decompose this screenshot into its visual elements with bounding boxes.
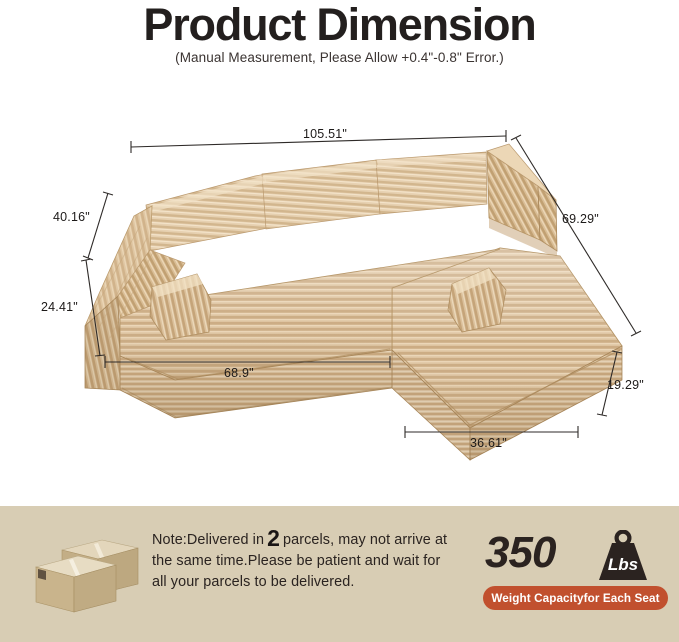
weight-dumbbell-icon: Lbs <box>595 530 651 582</box>
page-subtitle: (Manual Measurement, Please Allow +0.4"-… <box>0 50 679 65</box>
capacity-value-row: 350 Lbs <box>483 528 668 586</box>
dimension-lines <box>0 88 679 506</box>
dimension-label-overall-width: 105.51" <box>303 127 347 141</box>
delivery-banner: Note:Delivered in2parcels, may not arriv… <box>0 506 679 642</box>
cardboard-boxes-icon <box>24 536 144 614</box>
dimension-label-overall-height: 40.16" <box>53 210 90 224</box>
capacity-unit-text: Lbs <box>608 555 638 574</box>
dimension-label-seat-height: 24.41" <box>41 300 78 314</box>
dimension-label-sofa-seat-width: 68.9" <box>224 366 254 380</box>
weight-capacity-block: 350 Lbs Weight Capacityfor Each Seat <box>483 528 668 620</box>
capacity-number: 350 <box>485 528 555 578</box>
product-dimension-infographic: Product Dimension (Manual Measurement, P… <box>0 0 679 642</box>
dimension-label-chaise-height: 19.29" <box>607 378 644 392</box>
capacity-pill-label: Weight Capacityfor Each Seat <box>483 586 668 610</box>
dimension-label-chaise-depth: 36.61" <box>470 436 507 450</box>
page-title: Product Dimension <box>0 0 679 50</box>
dimension-diagram: 105.51" 40.16" 24.41" 69.29" 19.29" 68.9… <box>0 88 679 506</box>
header: Product Dimension (Manual Measurement, P… <box>0 0 679 80</box>
note-prefix: Note:Delivered in <box>152 532 264 548</box>
delivery-note: Note:Delivered in2parcels, may not arriv… <box>152 530 452 593</box>
parcel-count: 2 <box>264 525 283 551</box>
dimension-label-overall-depth: 69.29" <box>562 212 599 226</box>
